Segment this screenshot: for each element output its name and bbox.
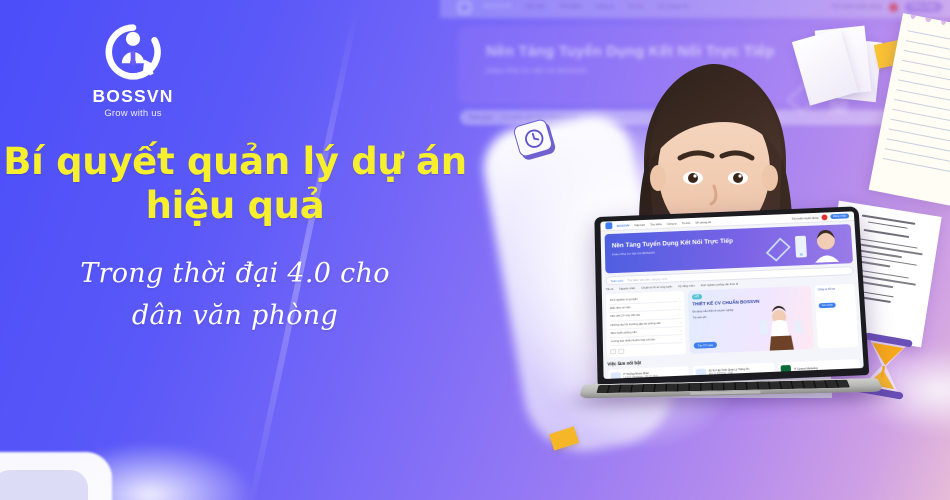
screen-nav-item-4[interactable]: Về chúng tôi xyxy=(695,220,711,225)
side-card-button[interactable]: Xem thêm xyxy=(819,303,836,309)
screen-hero-subtitle: Khám Phá Cơ Hội Với BOSSVN xyxy=(612,251,655,257)
screen-article-list: Kinh nghiệm ứng tuyển› Mẫu đơn xin việc›… xyxy=(606,291,686,358)
promo-title: THIẾT KẾ CV CHUẨN BOSSVN xyxy=(692,299,759,307)
screen-tab-3[interactable]: Kỹ năng mềm xyxy=(678,285,695,289)
notebook-line xyxy=(902,60,950,75)
screen-tab-4[interactable]: Kinh nghiệm phỏng vấn thực tế xyxy=(701,283,738,288)
screen-content-row: Kinh nghiệm ứng tuyển› Mẫu đơn xin việc›… xyxy=(606,284,859,358)
job-card[interactable]: Kỹ Sư Lập Trình Quản Lý Thông Tin Mức từ… xyxy=(693,363,775,379)
list-item-label: Nên viết CV như thế nào xyxy=(610,314,640,318)
chevron-right-icon: › xyxy=(680,312,681,316)
promo-badge: MỚI xyxy=(692,294,702,299)
screen-pagination[interactable] xyxy=(610,346,683,354)
screen-logo-text: BOSSVN xyxy=(617,223,630,227)
job-company: Laravel Translation - Hồ Chí Minh xyxy=(623,375,658,379)
chevron-right-icon: › xyxy=(680,328,681,332)
list-item-label: Mẫu đơn xin việc xyxy=(610,306,631,310)
screen-hero-title: Nền Tảng Tuyển Dụng Kết Nối Trực Tiếp xyxy=(612,238,733,250)
promo-bullet-1: Đa dạng mẫu thiết kế chuyên nghiệp xyxy=(693,309,734,314)
background-nav-item-1: Tìm kiếm xyxy=(559,4,582,10)
screen-tab-2[interactable]: Chuẩn bị hồ sơ ứng tuyển xyxy=(641,285,672,289)
brand-name: BOSSVN xyxy=(78,86,188,107)
pagination-next-button[interactable] xyxy=(618,349,624,354)
background-login-button: Đăng nhập xyxy=(905,2,942,12)
notebook-line xyxy=(908,30,950,45)
list-item-label: Mẹo luyện phỏng vấn xyxy=(611,331,637,335)
laptop-lid: BOSSVN Việc làm Tìm kiếm Công ty Tin tức… xyxy=(594,206,869,386)
chevron-right-icon: › xyxy=(679,304,680,308)
company-logo-icon xyxy=(781,365,792,376)
company-logo-icon xyxy=(610,372,620,379)
background-nav-item-0: Việc làm xyxy=(524,4,545,10)
headline-line-2: hiệu quả xyxy=(0,184,470,228)
bottom-left-inner-shape xyxy=(0,470,88,500)
notebook-line xyxy=(900,70,950,85)
background-nav-right: Tôi muốn tuyển dụng Đăng nhập xyxy=(831,2,942,12)
job-card[interactable]: IT Trưởng Nhóm Nhân Laravel Translation … xyxy=(607,366,689,379)
screen-logo-icon xyxy=(605,223,612,230)
brand-tagline: Grow with us xyxy=(78,108,188,119)
background-nav: BOSSVN Việc làm Tìm kiếm Công ty Tin tức… xyxy=(440,0,950,18)
company-logo-icon xyxy=(695,368,706,379)
screen-tab-1[interactable]: Nguyên nhân xyxy=(619,287,635,291)
laptop-screen: BOSSVN Việc làm Tìm kiếm Công ty Tin tức… xyxy=(600,211,863,379)
background-logo-text: BOSSVN xyxy=(484,4,511,10)
screen-nav-item-3[interactable]: Tin tức xyxy=(681,220,690,224)
chevron-right-icon: › xyxy=(680,337,681,341)
background-nav-item-3: Tin tức xyxy=(627,4,644,10)
bossvn-logo-icon xyxy=(103,22,163,82)
laptop: BOSSVN Việc làm Tìm kiếm Công ty Tin tức… xyxy=(596,210,896,440)
chevron-right-icon: › xyxy=(679,296,680,300)
screen-search-input[interactable]: Tìm kiếm việc làm, công ty, vị trí... xyxy=(627,276,669,282)
job-card[interactable]: IT Content Marketing xyxy=(778,359,860,378)
screen-tab-0[interactable]: Tất cả xyxy=(606,288,614,291)
clock-icon xyxy=(521,125,548,152)
brand-logo: BOSSVN Grow with us xyxy=(78,22,188,119)
job-card-text: IT Content Marketing xyxy=(794,367,818,372)
promo-bullet-2: Tải miễn phí xyxy=(693,316,707,320)
laptop-trackpad[interactable] xyxy=(690,391,761,395)
headline: Bí quyết quản lý dự án hiệu quả xyxy=(0,140,470,227)
promo-cta-button[interactable]: Tạo CV ngay xyxy=(694,342,718,349)
screen-side-card[interactable]: Công cụ hỗ trợ Xem thêm xyxy=(815,284,859,349)
screen-notification-icon[interactable] xyxy=(821,214,827,220)
screen-nav-item-2[interactable]: Công ty xyxy=(667,221,677,225)
headline-line-1: Bí quyết quản lý dự án xyxy=(0,140,470,184)
subheadline-line-2: dân văn phòng xyxy=(0,295,470,337)
screen-login-button[interactable]: Đăng nhập xyxy=(830,213,849,219)
job-card-text: IT Trưởng Nhóm Nhân Laravel Translation … xyxy=(623,372,658,379)
background-logo-icon xyxy=(458,1,471,14)
job-company: Mức từ 8000000 - VNĐ xyxy=(709,372,750,377)
screen-hero-banner: Nền Tảng Tuyển Dụng Kết Nối Trực Tiếp Kh… xyxy=(605,224,853,273)
subheadline: Trong thời đại 4.0 cho dân văn phòng xyxy=(0,253,470,337)
subheadline-line-1: Trong thời đại 4.0 cho xyxy=(0,253,470,295)
job-title: IT Content Marketing xyxy=(794,367,818,371)
background-nav-item-4: Về chúng tôi xyxy=(657,4,688,10)
chevron-right-icon: › xyxy=(680,320,681,324)
screen-nav-item-0[interactable]: Việc làm xyxy=(634,222,645,226)
list-item-label: Những câu hỏi thường gặp khi phỏng vấn xyxy=(611,322,661,327)
screen-nav-right: Tôi muốn tuyển dụng Đăng nhập xyxy=(791,213,849,221)
list-item-label: Lương bao nhiêu là phù hợp với bạn xyxy=(611,338,655,343)
list-item-label: Kinh nghiệm ứng tuyển xyxy=(610,298,638,302)
side-card-title: Công cụ hỗ trợ xyxy=(818,287,852,291)
screen-nav-item-1[interactable]: Tìm kiếm xyxy=(650,222,662,226)
copy-block: Bí quyết quản lý dự án hiệu quả Trong th… xyxy=(0,140,470,337)
pagination-prev-button[interactable] xyxy=(610,349,616,354)
background-notification-icon xyxy=(889,3,898,12)
banner-stage: BOSSVN Việc làm Tìm kiếm Công ty Tin tức… xyxy=(0,0,950,500)
screen-recruiter-link[interactable]: Tôi muốn tuyển dụng xyxy=(792,215,819,220)
screen-promo-card[interactable]: MỚI THIẾT KẾ CV CHUẨN BOSSVN Đa dạng mẫu… xyxy=(688,286,814,354)
background-recruiter-link: Tôi muốn tuyển dụng xyxy=(831,4,882,10)
background-nav-item-2: Công ty xyxy=(595,4,614,10)
promo-illustration xyxy=(751,305,811,352)
screen-hero-illustration xyxy=(762,228,849,265)
notebook-line xyxy=(883,158,950,173)
list-item[interactable]: Lương bao nhiêu là phù hợp với bạn› xyxy=(610,335,683,346)
job-card-text: Kỹ Sư Lập Trình Quản Lý Thông Tin Mức từ… xyxy=(709,368,750,377)
screen-search-location-chip[interactable]: Toàn quốc xyxy=(611,278,624,282)
notebook-line xyxy=(904,50,950,65)
notebook-line xyxy=(906,40,950,55)
